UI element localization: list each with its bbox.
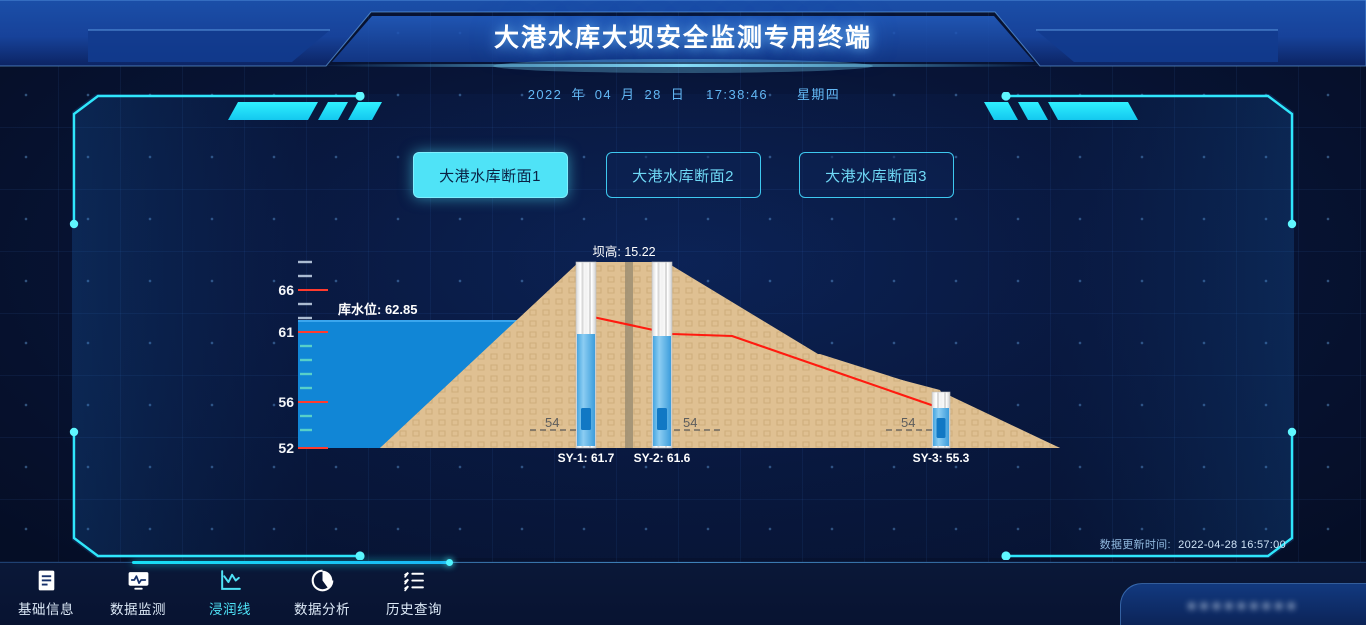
- masked-label: ●●●●●●●●●: [1187, 597, 1299, 613]
- date-month-unit: 月: [621, 87, 635, 102]
- date-year: 2022: [528, 87, 563, 102]
- sy-1-sensor: [581, 408, 591, 430]
- data-update-value: 2022-04-28 16:57:00: [1178, 539, 1286, 551]
- monitor-wave-icon: [126, 568, 151, 593]
- nav-item-data-analysis[interactable]: 数据分析: [276, 568, 368, 618]
- dam-svg: 66 61 56 52 54: [60, 242, 1306, 512]
- dam-core-wall: [625, 262, 633, 448]
- tab-section-1[interactable]: 大港水库断面1: [413, 152, 568, 198]
- nav-item-basic-info[interactable]: 基础信息: [0, 568, 92, 618]
- nav-item-history-query[interactable]: 历史查询: [368, 568, 460, 618]
- data-update-time: 数据更新时间: 2022-04-28 16:57:00: [1100, 536, 1286, 552]
- dam-cross-section-diagram: 66 61 56 52 54: [60, 242, 1306, 512]
- date-day-unit: 日: [671, 87, 685, 102]
- tab-section-3[interactable]: 大港水库断面3: [799, 152, 954, 198]
- tab-section-3-label: 大港水库断面3: [825, 165, 927, 186]
- nav-item-history-query-label: 历史查询: [386, 598, 442, 618]
- document-icon: [34, 568, 59, 593]
- sy-3-label: SY-3: 55.3: [913, 451, 970, 465]
- sy-2-sensor: [657, 408, 667, 430]
- nav-item-data-monitoring[interactable]: 数据监测: [92, 568, 184, 618]
- nav-item-data-monitoring-label: 数据监测: [110, 598, 166, 618]
- weekday: 星期四: [797, 87, 840, 102]
- data-update-label: 数据更新时间:: [1100, 539, 1171, 551]
- bottom-navbar: 基础信息 数据监测 浸润线: [0, 562, 1366, 625]
- clock-time: 17:38:46: [706, 87, 768, 102]
- reservoir-level-label: 库水位: 62.85: [338, 302, 417, 317]
- nav-items[interactable]: 基础信息 数据监测 浸润线: [0, 568, 510, 618]
- sy-1-depth-mark: 54: [545, 415, 559, 430]
- header: 大港水库大坝安全监测专用终端: [0, 0, 1366, 74]
- nav-item-basic-info-label: 基础信息: [18, 598, 74, 618]
- axis-tick-56: 56: [278, 394, 294, 410]
- sy-1-label: SY-1: 61.7: [558, 451, 615, 465]
- main-panel: 大港水库断面1 大港水库断面2 大港水库断面3: [60, 92, 1306, 560]
- tab-section-1-label: 大港水库断面1: [439, 165, 541, 186]
- tab-section-2[interactable]: 大港水库断面2: [606, 152, 761, 198]
- date-month: 04: [595, 87, 612, 102]
- sy-3-sensor: [937, 418, 946, 438]
- nav-item-phreatic-line[interactable]: 浸润线: [184, 568, 276, 618]
- nav-item-phreatic-line-label: 浸润线: [209, 598, 251, 618]
- axis-tick-52: 52: [278, 440, 294, 456]
- pie-chart-icon: [310, 568, 335, 593]
- bottom-right-plate: ●●●●●●●●●: [1120, 583, 1366, 625]
- axis-tick-66: 66: [278, 282, 294, 298]
- dashboard-root: 大港水库大坝安全监测专用终端 2022 年 04 月 28 日 17:38:46…: [0, 0, 1366, 625]
- datetime-display: 2022 年 04 月 28 日 17:38:46 星期四: [0, 84, 1366, 103]
- date-year-unit: 年: [571, 87, 585, 102]
- line-chart-icon: [218, 568, 243, 593]
- dam-height-label: 坝高: 15.22: [592, 244, 655, 259]
- page-title: 大港水库大坝安全监测专用终端: [0, 18, 1366, 54]
- sy-3-depth-mark: 54: [901, 415, 915, 430]
- nav-item-data-analysis-label: 数据分析: [294, 598, 350, 618]
- list-icon: [402, 568, 427, 593]
- navbar-progress-indicator: [132, 561, 450, 564]
- axis-tick-61: 61: [278, 324, 294, 340]
- date-day: 28: [644, 87, 661, 102]
- sy-2-label: SY-2: 61.6: [634, 451, 691, 465]
- tab-section-2-label: 大港水库断面2: [632, 165, 734, 186]
- sy-2-depth-mark: 54: [683, 415, 697, 430]
- section-tabs[interactable]: 大港水库断面1 大港水库断面2 大港水库断面3: [60, 152, 1306, 198]
